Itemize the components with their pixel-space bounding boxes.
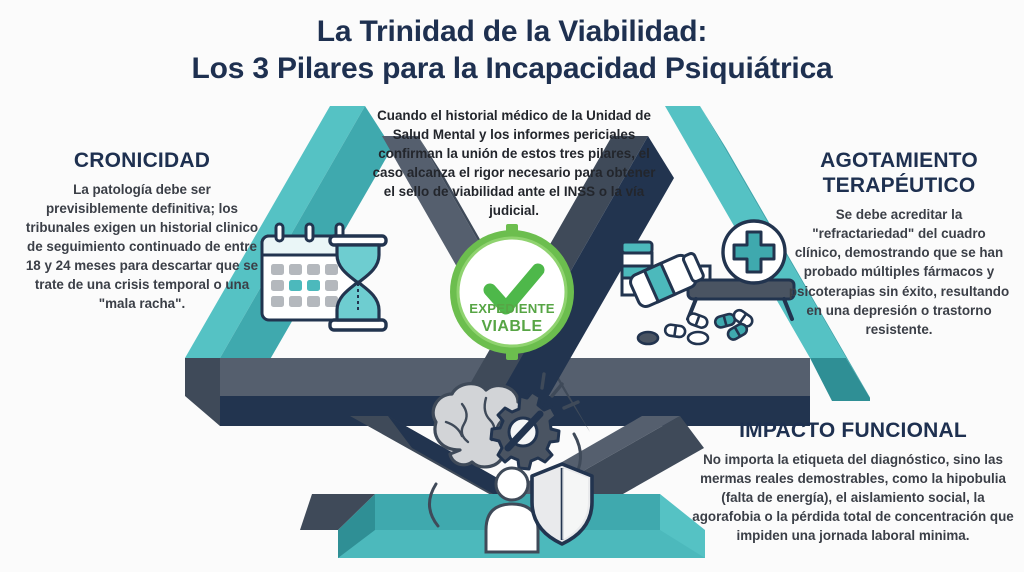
pill-bottle-couch-cross-icon <box>622 221 794 344</box>
pillar-panel-impacto: IMPACTO FUNCIONAL No importa la etiqueta… <box>690 418 1016 545</box>
infographic-canvas: La Trinidad de la Viabilidad: Los 3 Pila… <box>0 0 1024 572</box>
badge-expediente-viable: EXPEDIENTE VIABLE <box>448 228 576 356</box>
title-line-1: La Trinidad de la Viabilidad: <box>0 14 1024 51</box>
pillar-body-agotamiento: Se debe acreditar la "refractariedad" de… <box>788 205 1010 338</box>
badge-line-2: VIABLE <box>448 318 576 336</box>
pillar-heading-agotamiento: AGOTAMIENTO TERAPÉUTICO <box>788 148 1010 198</box>
pillar-heading-cronicidad: CRONICIDAD <box>24 148 260 173</box>
calendar-hourglass-icon <box>262 224 386 330</box>
badge-line-1: EXPEDIENTE <box>448 301 576 316</box>
pillar-heading-impacto: IMPACTO FUNCIONAL <box>690 418 1016 443</box>
center-note: Cuando el historial médico de la Unidad … <box>366 106 662 220</box>
pillar-body-impacto: No importa la etiqueta del diagnóstico, … <box>690 450 1016 545</box>
title-line-2: Los 3 Pilares para la Incapacidad Psiqui… <box>0 51 1024 88</box>
pillar-panel-agotamiento: AGOTAMIENTO TERAPÉUTICO Se debe acredita… <box>788 148 1010 339</box>
pillar-panel-cronicidad: CRONICIDAD La patología debe ser previsi… <box>24 148 260 313</box>
page-title: La Trinidad de la Viabilidad: Los 3 Pila… <box>0 14 1024 87</box>
pillar-body-cronicidad: La patología debe ser previsiblemente de… <box>24 180 260 313</box>
